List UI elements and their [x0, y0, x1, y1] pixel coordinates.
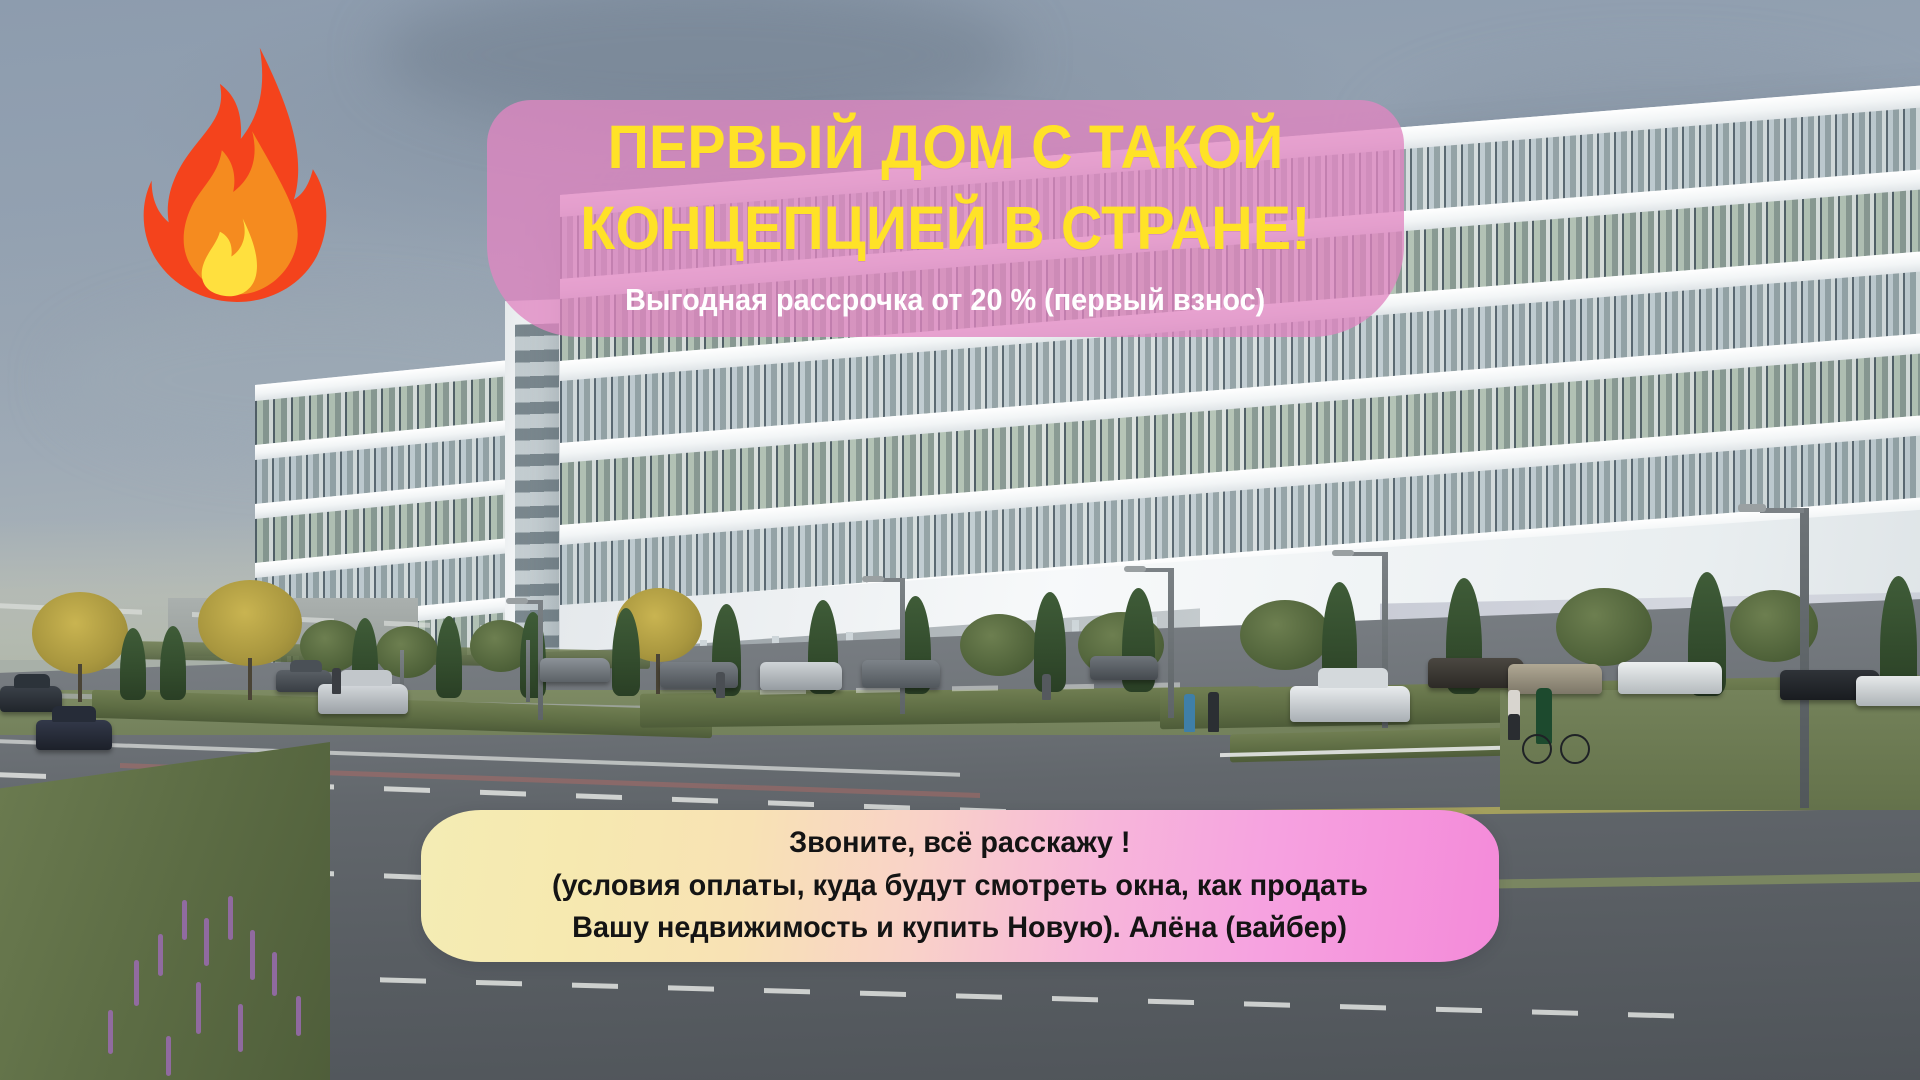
- lamp-head: [1332, 550, 1354, 556]
- lavender-flower: [108, 1010, 113, 1054]
- contact-line-3: Вашу недвижимость и купить Новую). Алёна…: [573, 907, 1348, 950]
- building-entrance: [1580, 630, 1730, 710]
- tree-trunk: [248, 658, 252, 700]
- bicycle-wheel: [1560, 734, 1590, 764]
- wall-window: [1742, 636, 1751, 676]
- cypress-tree: [160, 626, 186, 700]
- pedestrian: [1184, 694, 1195, 732]
- cypress-tree: [1688, 572, 1726, 696]
- grass-right: [1500, 690, 1920, 810]
- lavender-flower: [272, 952, 277, 996]
- lamp-arm: [1352, 552, 1384, 556]
- hedge-row: [640, 686, 1260, 728]
- car: [1290, 686, 1410, 722]
- cypress-tree: [1446, 578, 1482, 694]
- round-tree: [1078, 612, 1164, 678]
- lavender-flower: [158, 934, 163, 976]
- lamp-post: [538, 600, 543, 720]
- cypress-tree: [612, 608, 640, 696]
- lavender-flower: [204, 918, 209, 966]
- cloud: [60, 300, 580, 460]
- autumn-tree: [198, 580, 302, 666]
- road-far: [0, 599, 1920, 793]
- cypress-tree: [436, 616, 462, 698]
- pedestrian: [1508, 714, 1520, 740]
- lavender-flower: [134, 960, 139, 1006]
- car-roof: [1318, 668, 1388, 688]
- lavender-flower: [166, 1036, 171, 1076]
- promo-banner: ПЕРВЫЙ ДОМ С ТАКОЙ КОНЦЕПЦИЕЙ В СТРАНЕ! …: [0, 0, 1920, 1080]
- podium-column: [996, 624, 1003, 734]
- cypress-tree: [352, 618, 378, 698]
- lamp-head: [506, 598, 528, 604]
- building-left-wing: [255, 343, 685, 745]
- curb: [1250, 733, 1920, 759]
- contact-card: Звоните, всё расскажу ! (условия оплаты,…: [421, 810, 1499, 962]
- wall-window: [1822, 636, 1831, 676]
- building-podium: [560, 507, 1920, 785]
- wall-window: [1782, 636, 1791, 676]
- podium-column: [772, 636, 779, 746]
- podium-column: [920, 628, 927, 738]
- headline-line-2: КОНЦЕПЦИЕЙ В СТРАНЕ!: [580, 197, 1310, 260]
- parked-car: [1618, 662, 1722, 694]
- cypress-tree: [1034, 592, 1066, 692]
- hedge-row: [1160, 675, 1920, 730]
- lamp-head: [1124, 566, 1146, 572]
- parked-car: [862, 660, 940, 688]
- pedestrian: [1508, 690, 1520, 734]
- round-tree: [1556, 588, 1652, 666]
- car: [0, 686, 62, 712]
- pedestrian: [1208, 692, 1219, 732]
- lamp-arm: [1760, 508, 1804, 513]
- fire-icon: [142, 44, 332, 302]
- grass-median: [0, 690, 1920, 810]
- lavender-flower: [238, 1004, 243, 1052]
- round-tree: [470, 620, 532, 672]
- round-tree: [1240, 600, 1330, 670]
- lamp-head: [862, 576, 884, 582]
- cypress-tree: [712, 604, 741, 696]
- lamp-arm: [1142, 568, 1170, 572]
- tree-trunk: [78, 664, 82, 702]
- lavender-flower: [228, 896, 233, 940]
- car: [36, 720, 112, 750]
- car: [318, 684, 408, 714]
- lane-edge-line: [1220, 735, 1920, 757]
- lamp-post: [900, 578, 905, 714]
- distant-haze: [0, 520, 1920, 690]
- round-tree: [1730, 590, 1818, 662]
- podium-column: [1150, 617, 1157, 727]
- parked-car: [760, 662, 842, 690]
- lamp-post: [1800, 508, 1809, 808]
- lamp-post: [1382, 552, 1388, 728]
- car: [276, 670, 332, 692]
- lamp-post: [1168, 568, 1174, 718]
- parked-car: [540, 658, 610, 682]
- lamp-head: [1738, 504, 1766, 512]
- headline-line-1: ПЕРВЫЙ ДОМ С ТАКОЙ: [608, 116, 1284, 179]
- cypress-tree: [120, 628, 146, 700]
- parked-car: [660, 662, 738, 688]
- bicycle-wheel: [1522, 734, 1552, 764]
- round-tree: [376, 626, 438, 678]
- lavender-flower: [182, 900, 187, 940]
- cloud: [1180, 330, 1880, 480]
- cypress-tree: [520, 612, 546, 698]
- wall-window: [1862, 636, 1871, 676]
- parked-car: [1508, 664, 1602, 694]
- lamp-post: [526, 640, 530, 702]
- hedge-row: [92, 690, 712, 739]
- curb: [0, 692, 740, 713]
- cloud: [1380, 60, 1920, 230]
- lane-marking: [0, 603, 560, 633]
- lane-edge-line: [0, 739, 960, 777]
- building-service-tower: [505, 299, 569, 721]
- podium-column: [1072, 620, 1079, 730]
- autumn-tree: [32, 592, 128, 674]
- lavender-flower: [296, 996, 301, 1036]
- car-roof: [290, 660, 322, 672]
- podium-recess: [640, 608, 1200, 743]
- building-right-wall: [1380, 592, 1920, 773]
- pedestrian: [1042, 674, 1051, 700]
- pedestrian: [332, 668, 341, 694]
- cypress-tree: [900, 596, 931, 694]
- headline-card: ПЕРВЫЙ ДОМ С ТАКОЙ КОНЦЕПЦИЕЙ В СТРАНЕ! …: [487, 100, 1404, 337]
- lamp-arm: [878, 578, 902, 582]
- parked-car: [1780, 670, 1880, 700]
- cypress-tree: [1880, 576, 1917, 696]
- lane-red-tint: [120, 763, 980, 798]
- round-tree: [960, 614, 1038, 676]
- lavender-flower: [196, 982, 201, 1034]
- building-distant: [168, 598, 418, 656]
- lavender-flower: [250, 930, 255, 980]
- tree-trunk: [656, 654, 660, 694]
- car-roof: [340, 670, 392, 686]
- car-roof: [14, 674, 50, 688]
- lane-marking: [380, 977, 1720, 1019]
- hedge-row: [130, 641, 650, 669]
- hedge-row: [1230, 718, 1920, 763]
- lamp-arm: [520, 600, 540, 604]
- cypress-tree: [808, 600, 838, 694]
- podium-column: [846, 632, 853, 742]
- lane-marking: [760, 682, 1180, 694]
- lamp-post: [400, 650, 404, 704]
- parked-car: [1428, 658, 1524, 688]
- podium-column: [700, 640, 707, 750]
- parked-car: [1090, 656, 1158, 680]
- grass-foreground: [0, 742, 330, 1080]
- tower-glazing: [515, 323, 559, 655]
- car-roof: [52, 706, 96, 722]
- cypress-tree: [1322, 582, 1357, 694]
- parked-car: [1856, 676, 1920, 706]
- contact-line-1: Звоните, всё расскажу !: [789, 822, 1130, 865]
- round-tree: [300, 620, 362, 672]
- autumn-tree: [616, 588, 702, 662]
- pedestrian: [716, 672, 725, 698]
- cyclist: [1536, 688, 1552, 744]
- cypress-tree: [1122, 588, 1155, 692]
- headline-subline: Выгодная рассрочка от 20 % (первый взнос…: [625, 282, 1265, 318]
- contact-line-2: (условия оплаты, куда будут смотреть окн…: [552, 865, 1368, 908]
